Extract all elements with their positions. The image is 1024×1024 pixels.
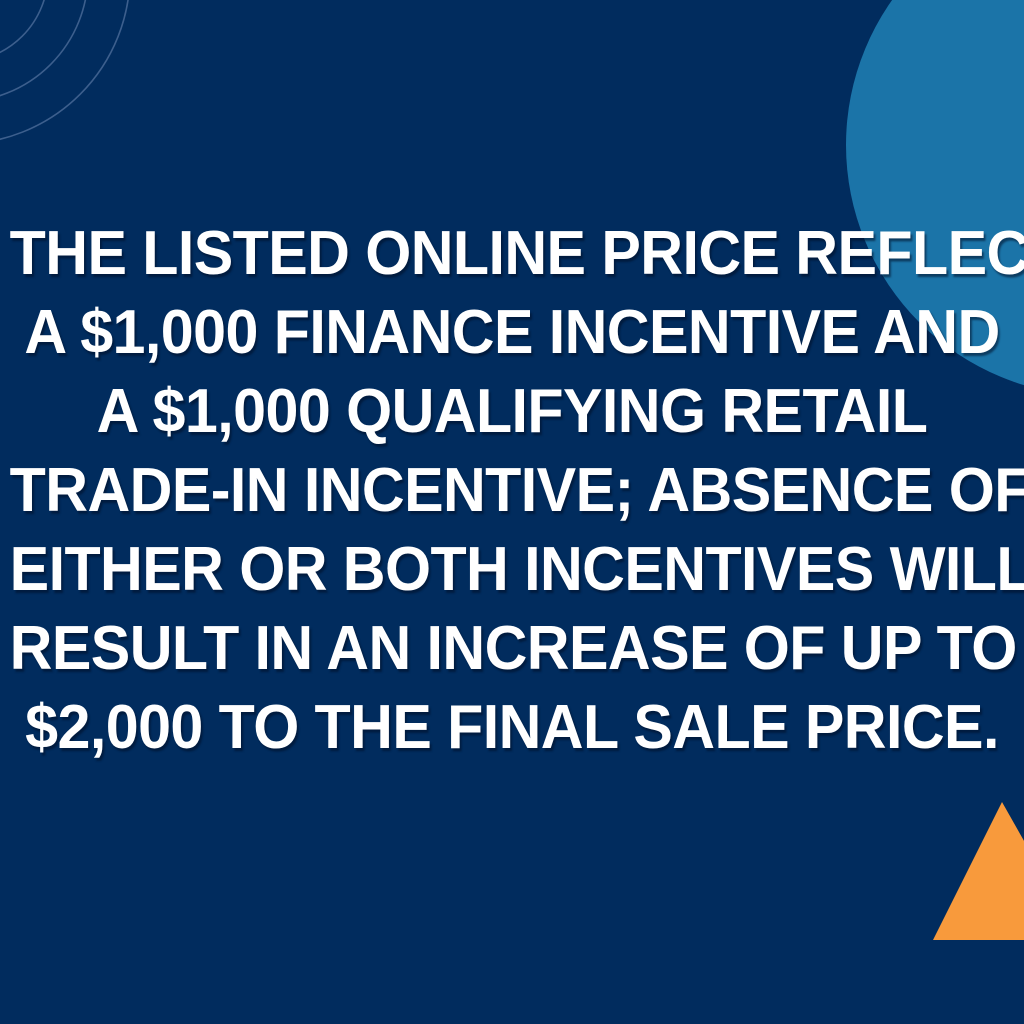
headline-line: THE LISTED ONLINE PRICE REFLECTS — [10, 214, 1015, 293]
headline-line: TRADE-IN INCENTIVE; ABSENCE OF — [10, 451, 1015, 530]
headline-line: A $1,000 QUALIFYING RETAIL — [10, 372, 1015, 451]
headline-line: A $1,000 FINANCE INCENTIVE AND — [10, 293, 1015, 372]
disclaimer-headline: THE LISTED ONLINE PRICE REFLECTS A $1,00… — [10, 214, 1015, 767]
headline-line: $2,000 TO THE FINAL SALE PRICE. — [10, 688, 1015, 767]
promo-card: THE LISTED ONLINE PRICE REFLECTS A $1,00… — [0, 0, 1024, 1024]
headline-line: RESULT IN AN INCREASE OF UP TO — [10, 609, 1015, 688]
headline-line: EITHER OR BOTH INCENTIVES WILL — [10, 530, 1015, 609]
